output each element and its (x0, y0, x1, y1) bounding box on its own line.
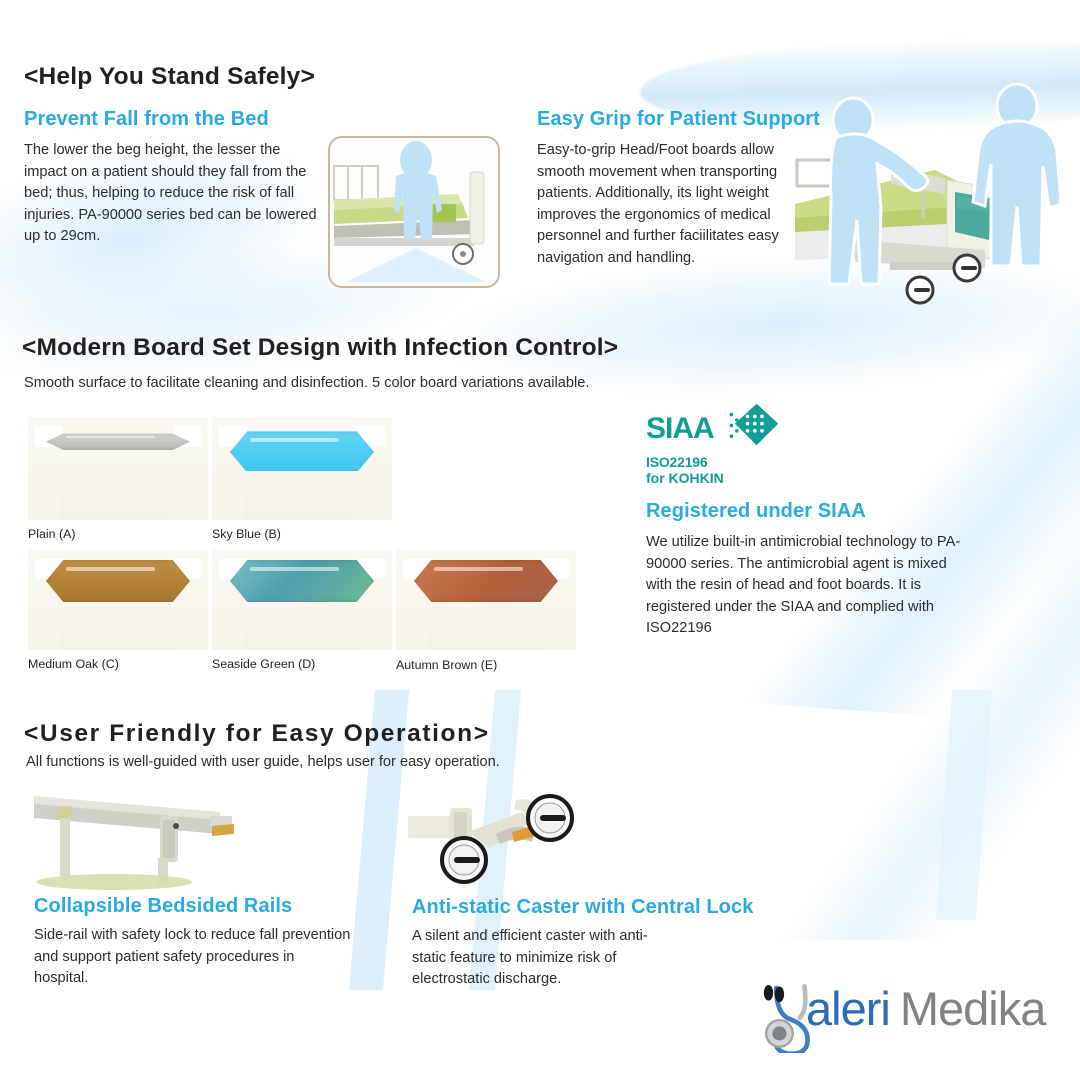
board-graphic (28, 417, 208, 520)
board-caption-autumn-brown-e: Autumn Brown (E) (396, 658, 497, 672)
intro-user-friendly: All functions is well-guided with user g… (26, 754, 646, 770)
heading-easy-grip: Easy Grip for Patient Support (537, 108, 827, 131)
section-title-board-set: <Modern Board Set Design with Infection … (22, 334, 618, 362)
intro-board-set: Smooth surface to facilitate cleaning an… (24, 375, 664, 391)
illustration-side-rail (24, 778, 244, 890)
siaa-logo: SIAA ISO22196 for KOHKIN (646, 412, 846, 492)
board-legs (28, 608, 208, 650)
board-caption-plain-a: Plain (A) (28, 527, 76, 541)
heading-prevent-fall: Prevent Fall from the Bed (24, 108, 324, 131)
brochure-page: <Help You Stand Safely> Prevent Fall fro… (0, 0, 1080, 1080)
board-swatch-medium-oak-c[interactable] (28, 550, 208, 650)
board-graphic (28, 550, 208, 650)
illustration-low-bed-frame (328, 136, 500, 288)
body-easy-grip: Easy-to-grip Head/Foot boards allow smoo… (537, 140, 805, 269)
heading-collapsible-rails: Collapsible Bedsided Rails (34, 895, 364, 918)
logo-text-galeri: aleri (806, 982, 890, 1035)
board-graphic (212, 417, 392, 520)
logo-text-medika: Medika (900, 982, 1046, 1035)
heading-anti-static-caster: Anti-static Caster with Central Lock (412, 896, 742, 919)
panel-gloss (250, 438, 339, 442)
board-legs (28, 477, 208, 520)
board-swatch-plain-a[interactable] (28, 417, 208, 520)
siaa-kohkin-label: for KOHKIN (646, 470, 846, 486)
siaa-wordmark: SIAA (646, 414, 714, 444)
board-swatch-sky-blue-b[interactable] (212, 417, 392, 520)
siaa-iso-label: ISO22196 (646, 454, 846, 470)
board-swatch-autumn-brown-e[interactable] (396, 550, 576, 650)
panel-gloss (434, 567, 523, 571)
side-rail-graphic (24, 778, 244, 890)
background-band-3 (936, 690, 992, 920)
heading-registered-siaa: Registered under SIAA (646, 500, 986, 523)
body-prevent-fall: The lower the beg height, the lesser the… (24, 140, 320, 248)
board-legs (396, 608, 576, 650)
board-caption-sky-blue-b: Sky Blue (B) (212, 527, 281, 541)
section-title-user-friendly: <User Friendly for Easy Operation> (24, 720, 490, 748)
panel-gloss (66, 567, 155, 571)
board-swatch-seaside-green-d[interactable] (212, 550, 392, 650)
board-panel (414, 560, 558, 602)
board-legs (212, 608, 392, 650)
siaa-diamond-icon (726, 402, 780, 456)
galeri-medika-logo[interactable]: aleriMedika (756, 975, 1056, 1060)
illustration-caster (404, 778, 596, 888)
board-panel (46, 433, 190, 449)
panel-gloss (250, 567, 339, 571)
board-caption-medium-oak-c: Medium Oak (C) (28, 657, 119, 671)
section-title-stand-safely: <Help You Stand Safely> (24, 63, 315, 91)
nurses-transport-bed-graphic (795, 72, 1080, 317)
board-legs (212, 477, 392, 520)
board-caption-seaside-green-d: Seaside Green (D) (212, 657, 315, 671)
illustration-nurses-bed (795, 72, 1080, 317)
board-graphic (212, 550, 392, 650)
body-collapsible-rails: Side-rail with safety lock to reduce fal… (34, 925, 352, 990)
low-bed-illustration (330, 138, 500, 288)
board-graphic (396, 550, 576, 650)
board-panel (230, 560, 374, 602)
board-panel (230, 431, 374, 472)
body-registered-siaa: We utilize built-in antimicrobial techno… (646, 532, 966, 640)
caster-graphic (404, 778, 596, 888)
board-panel (46, 560, 190, 602)
panel-gloss (66, 436, 155, 438)
body-anti-static-caster: A silent and efficient caster with anti-… (412, 926, 660, 991)
